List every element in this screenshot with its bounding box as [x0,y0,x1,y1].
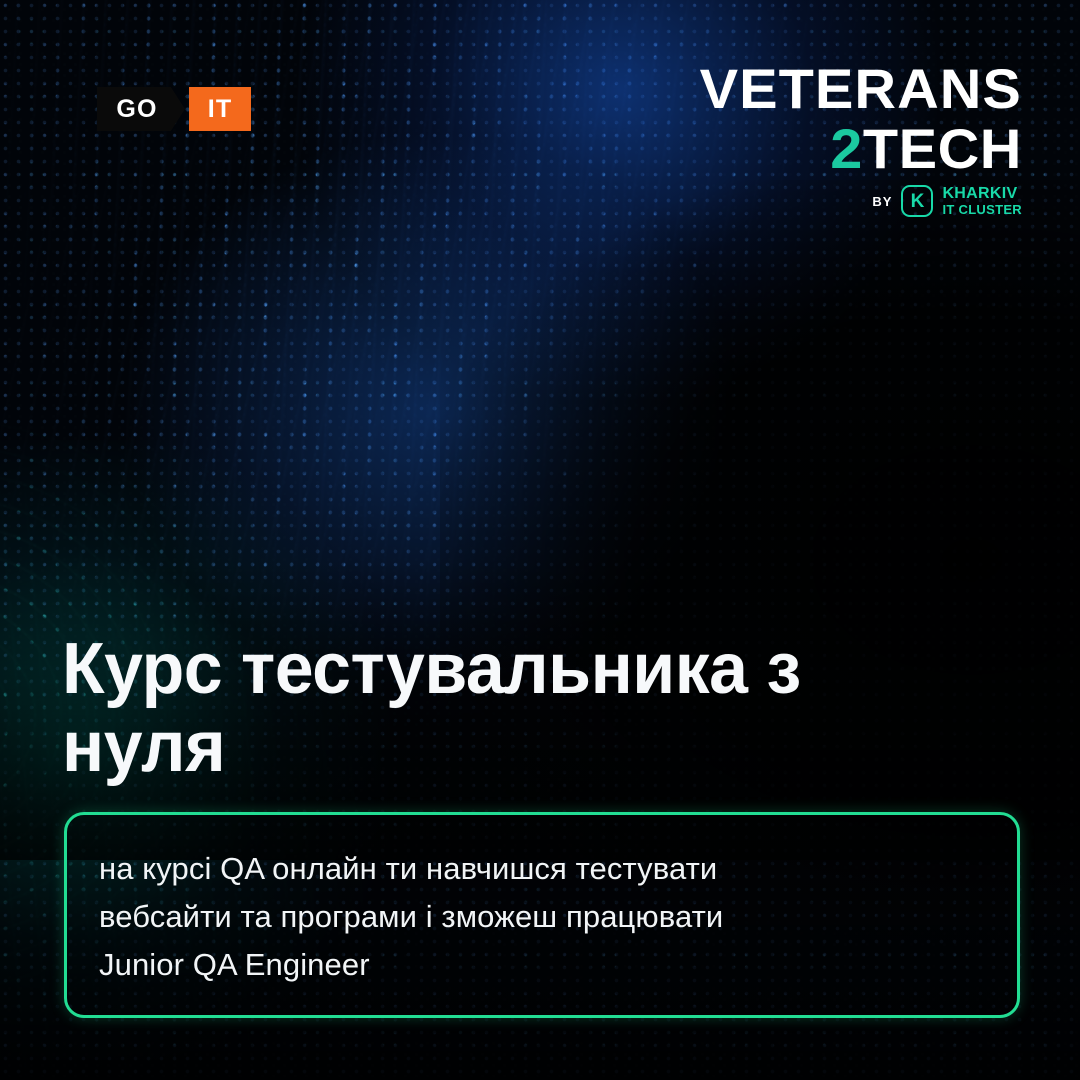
partner-name-line1: KHARKIV [942,186,1022,202]
description-line-2: вебсайти та програми і зможеш працювати [99,893,987,941]
partner-byline: BY K KHARKIV IT CLUSTER [872,185,1022,217]
promo-poster: GO IT VETERANS 2TECH BY K KHARKIV IT CLU… [0,0,1080,1080]
page-title: Курс тестувальника з нуля [62,630,935,786]
goit-logo-it-block: IT [189,87,251,131]
description-line-1: на курсі QA онлайн ти навчишся тестувати [99,845,987,893]
partner-name: KHARKIV IT CLUSTER [942,186,1022,216]
description-box: на курсі QA онлайн ти навчишся тестувати… [64,812,1020,1018]
veterans2tech-logo: VETERANS 2TECH [709,60,1022,180]
description-text: на курсі QA онлайн ти навчишся тестувати… [99,845,987,989]
veterans2tech-line-2tech: 2TECH [700,118,1022,180]
goit-logo-go-text: GO [116,95,157,124]
veterans2tech-numeral-two: 2 [830,117,863,180]
goit-logo-go-block: GO [97,87,185,131]
partner-name-line2: IT CLUSTER [942,203,1022,216]
kharkiv-it-cluster-icon: K [901,185,933,217]
description-line-3: Junior QA Engineer [99,941,987,989]
goit-logo-it-text: IT [208,95,233,124]
goit-logo[interactable]: GO IT [97,87,251,131]
byline-by-label: BY [872,194,892,209]
kharkiv-it-cluster-icon-letter: K [911,192,925,211]
veterans2tech-line-veterans: VETERANS [700,60,1022,118]
veterans2tech-word-tech: TECH [863,117,1022,180]
